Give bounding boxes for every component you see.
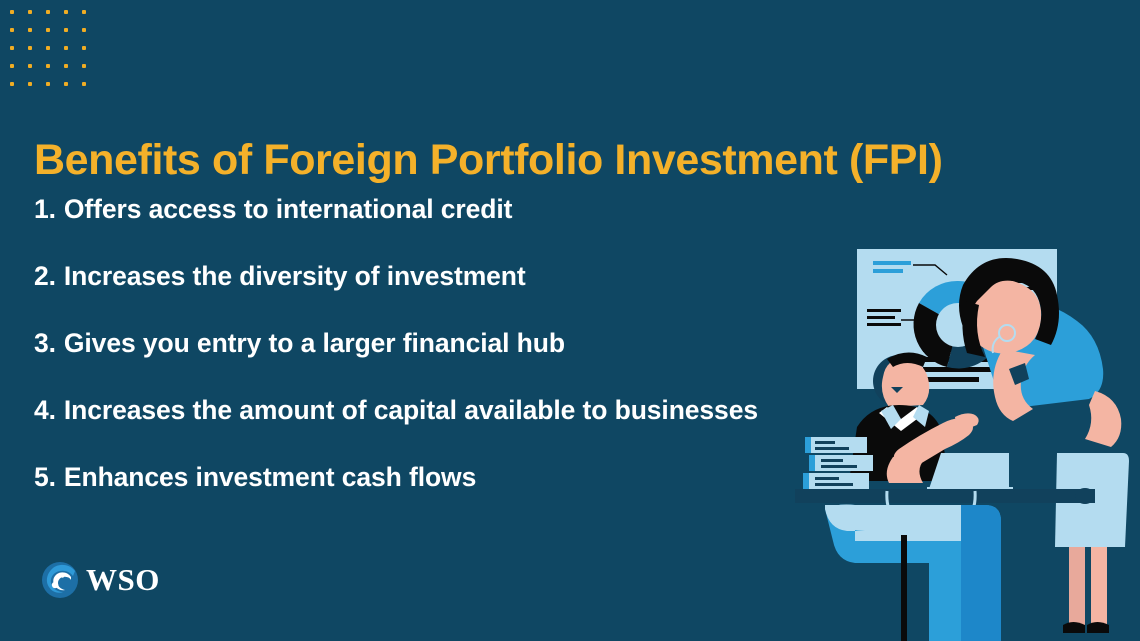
list-item-label: Increases the diversity of investment [64,261,526,292]
list-item-number: 3. [34,328,56,359]
list-item-number: 5. [34,462,56,493]
list-item: 3. Gives you entry to a larger financial… [34,328,834,395]
dot [46,28,50,32]
wso-logo[interactable]: WSO [41,561,160,599]
laptop [927,453,1013,492]
dot [46,82,50,86]
dot [46,10,50,14]
list-item-label: Gives you entry to a larger financial hu… [64,328,565,359]
wso-globe-swoosh-icon [41,561,79,599]
list-item-label: Enhances investment cash flows [64,462,476,493]
dot [28,82,32,86]
dot [64,28,68,32]
dot [28,28,32,32]
dot [10,10,14,14]
dot [46,64,50,68]
dot [82,10,86,14]
list-item: 2. Increases the diversity of investment [34,261,834,328]
dot [82,64,86,68]
dot [10,28,14,32]
dot [28,10,32,14]
list-item-number: 1. [34,194,56,225]
benefits-list: 1. Offers access to international credit… [34,194,834,529]
dot [10,46,14,50]
dot-grid [9,9,93,84]
book-stack [803,437,873,489]
office-teamwork-analytics-illustration [795,241,1140,641]
dot [64,10,68,14]
wso-wordmark: WSO [86,562,160,598]
dot [82,46,86,50]
dot [10,82,14,86]
dot [64,64,68,68]
list-item: 5. Enhances investment cash flows [34,462,834,529]
dot [46,46,50,50]
desk [795,488,1095,504]
list-item-label: Offers access to international credit [64,194,512,225]
list-item-number: 4. [34,395,56,426]
dot [82,28,86,32]
dot [28,64,32,68]
list-item: 4. Increases the amount of capital avail… [34,395,834,462]
dot [28,46,32,50]
list-item: 1. Offers access to international credit [34,194,834,261]
office-chair [825,491,1001,641]
dot [82,82,86,86]
dot [64,82,68,86]
list-item-number: 2. [34,261,56,292]
slide-canvas: Benefits of Foreign Portfolio Investment… [0,0,1140,641]
dot [64,46,68,50]
page-title: Benefits of Foreign Portfolio Investment… [34,137,1094,184]
dot [10,64,14,68]
list-item-label: Increases the amount of capital availabl… [64,395,758,426]
